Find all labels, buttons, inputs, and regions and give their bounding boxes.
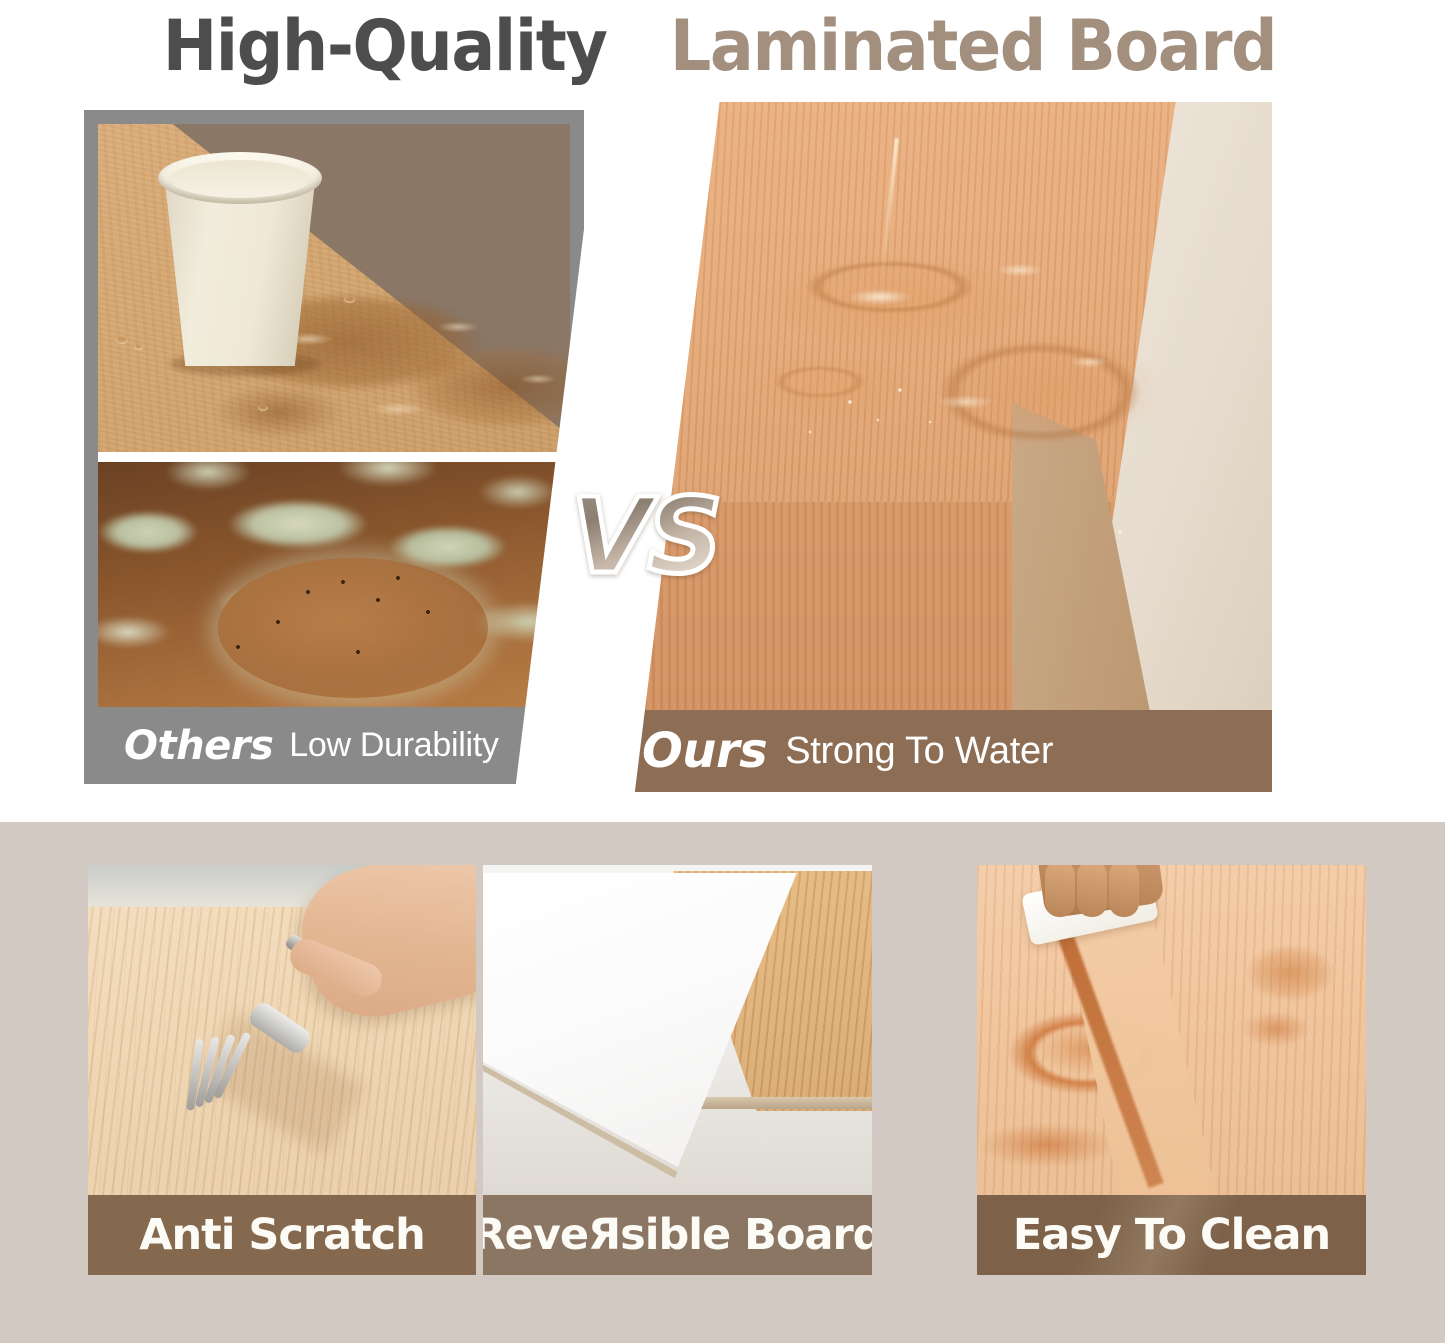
ours-panel: Ours Strong To Water [600,102,1272,792]
paper-cup-interior [170,160,310,198]
mold-growth-photo [98,462,570,707]
sauce-stain-right [1220,931,1360,1061]
feature-card-anti-scratch: Anti Scratch [88,865,476,1275]
wiping-sauce-off-board-photo [977,865,1366,1195]
others-name: Others [124,723,273,769]
vs-badge: VS [571,484,718,588]
page-title-part-1: High-Quality [163,5,607,87]
paper-cup-spill-photo [98,124,570,452]
others-descriptor: Low Durability [289,726,498,765]
finger [1077,865,1107,917]
ours-label-bar: Ours Strong To Water [600,710,1272,792]
fork-scratching-board-photo [88,865,476,1195]
white-and-wood-board-photo [483,865,872,1195]
photo-divider [98,452,570,462]
feature-caption-bar: Easy To Clean [977,1195,1366,1275]
ours-descriptor: Strong To Water [785,730,1053,773]
page-title: High-Quality Laminated Board [0,0,1445,92]
water-beading-photo [600,102,1272,710]
page-title-space [624,5,645,87]
features-section: Anti Scratch ReveЯsible Board [0,822,1445,1343]
feature-card-reversible-board: ReveЯsible Board [483,865,872,1275]
feature-card-easy-to-clean: Easy To Clean [977,865,1366,1275]
finger [1045,865,1075,917]
mold-specks [98,462,570,707]
page-title-part-2: Laminated Board [669,5,1275,87]
feature-caption-bar: ReveЯsible Board [483,1195,872,1275]
feature-caption-text: ReveЯsible Board [483,1210,872,1260]
ours-name: Ours [642,723,767,779]
droplet-icon [134,344,143,350]
finger [1109,865,1139,917]
water-beads [600,102,1272,710]
feature-caption-text: Anti Scratch [139,1210,425,1260]
feature-caption-text: Easy To Clean [1013,1210,1330,1260]
others-panel: Others Low Durability [84,110,584,784]
droplet-icon [258,404,268,411]
droplet-icon [116,336,128,344]
comparison-section: Others Low Durability Ours Strong To Wat… [0,92,1445,822]
others-photo-stack [98,124,570,707]
others-label-bar: Others Low Durability [84,707,584,784]
feature-caption-bar: Anti Scratch [88,1195,476,1275]
droplet-icon [344,296,355,303]
